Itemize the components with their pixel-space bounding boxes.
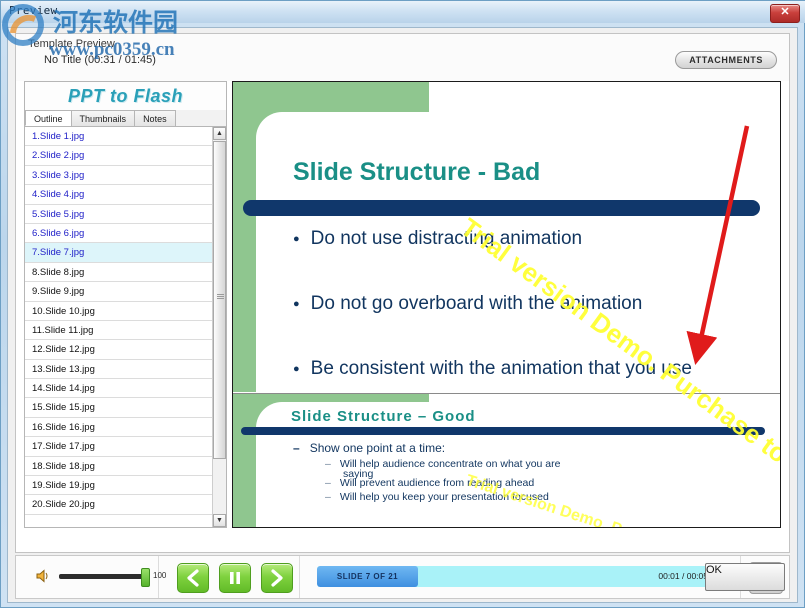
pane-tabs: OutlineThumbnailsNotes — [25, 110, 226, 127]
close-icon[interactable]: ✕ — [770, 4, 800, 23]
slide-b-sub-3: Will help you keep your presentation foc… — [325, 491, 549, 503]
ok-button[interactable]: OK — [705, 563, 785, 591]
slide-bad: Slide Structure - Bad Do not use distrac… — [233, 82, 780, 392]
scroll-down-icon[interactable]: ▼ — [213, 514, 226, 527]
slide-title-bad: Slide Structure - Bad — [293, 158, 540, 187]
slide-bullet-2: Do not go overboard with the animation — [293, 293, 642, 315]
tab-notes[interactable]: Notes — [134, 110, 176, 126]
window-title: Preview — [9, 4, 57, 17]
attachments-button[interactable]: ATTACHMENTS — [675, 51, 777, 69]
list-item[interactable]: 18.Slide 18.jpg — [25, 457, 226, 476]
scrollbar-thumb[interactable] — [213, 141, 226, 459]
window-client-area: Template Preview No Title (00:31 / 01:45… — [7, 27, 798, 603]
list-item[interactable]: 15.Slide 15.jpg — [25, 398, 226, 417]
list-item[interactable]: 8.Slide 8.jpg — [25, 263, 226, 282]
slide-good: Slide Structure – Good Show one point at… — [233, 393, 780, 528]
tab-outline[interactable]: Outline — [25, 110, 72, 126]
slide-bullet-1: Do not use distracting animation — [293, 228, 582, 250]
slide-title-time-label: No Title (00:31 / 01:45) — [44, 54, 156, 66]
slide-title-good: Slide Structure – Good — [291, 408, 476, 425]
window-titlebar: Preview ✕ — [1, 1, 805, 23]
list-item[interactable]: 6.Slide 6.jpg — [25, 224, 226, 243]
list-item[interactable]: 16.Slide 16.jpg — [25, 418, 226, 437]
tab-thumbnails[interactable]: Thumbnails — [71, 110, 136, 126]
slide-list[interactable]: 1.Slide 1.jpg2.Slide 2.jpg3.Slide 3.jpg4… — [25, 127, 226, 527]
slide-accent-bar — [243, 200, 760, 216]
slide-list-scrollbar[interactable]: ▲ ▼ — [212, 127, 226, 527]
list-item[interactable]: 13.Slide 13.jpg — [25, 360, 226, 379]
player-header: Template Preview No Title (00:31 / 01:45… — [16, 34, 789, 81]
slide-bullet-3: Be consistent with the animation that yo… — [293, 358, 692, 380]
list-item[interactable]: 11.Slide 11.jpg — [25, 321, 226, 340]
template-preview-label: Template Preview — [28, 38, 115, 50]
list-item[interactable]: 19.Slide 19.jpg — [25, 476, 226, 495]
list-item[interactable]: 4.Slide 4.jpg — [25, 185, 226, 204]
list-item[interactable]: 3.Slide 3.jpg — [25, 166, 226, 185]
slide-accent-bar-2 — [241, 427, 765, 435]
list-item[interactable]: 5.Slide 5.jpg — [25, 205, 226, 224]
slide-stage[interactable]: Slide Structure - Bad Do not use distrac… — [232, 81, 781, 528]
list-item[interactable]: 20.Slide 20.jpg — [25, 495, 226, 514]
slide-b-bullet: Show one point at a time: — [293, 441, 445, 455]
flash-player-area: Template Preview No Title (00:31 / 01:45… — [15, 33, 790, 553]
list-item[interactable]: 10.Slide 10.jpg — [25, 302, 226, 321]
dialog-footer: OK — [8, 556, 797, 602]
outline-pane: PPT to Flash OutlineThumbnailsNotes 1.Sl… — [24, 81, 227, 528]
list-item[interactable]: 17.Slide 17.jpg — [25, 437, 226, 456]
scroll-up-icon[interactable]: ▲ — [213, 127, 226, 140]
preview-window: Preview ✕ Template Preview No Title (00:… — [0, 0, 805, 608]
app-logo: PPT to Flash — [25, 82, 226, 110]
slide-card — [256, 112, 780, 392]
list-item[interactable]: 1.Slide 1.jpg — [25, 127, 226, 146]
list-item[interactable]: 2.Slide 2.jpg — [25, 146, 226, 165]
list-item[interactable]: 14.Slide 14.jpg — [25, 379, 226, 398]
list-item[interactable]: 9.Slide 9.jpg — [25, 282, 226, 301]
scrollbar-grip-icon — [217, 294, 224, 299]
list-item[interactable]: 7.Slide 7.jpg — [25, 243, 226, 262]
list-item[interactable]: 12.Slide 12.jpg — [25, 340, 226, 359]
slide-b-sub-2: Will prevent audience from reading ahead — [325, 477, 534, 489]
